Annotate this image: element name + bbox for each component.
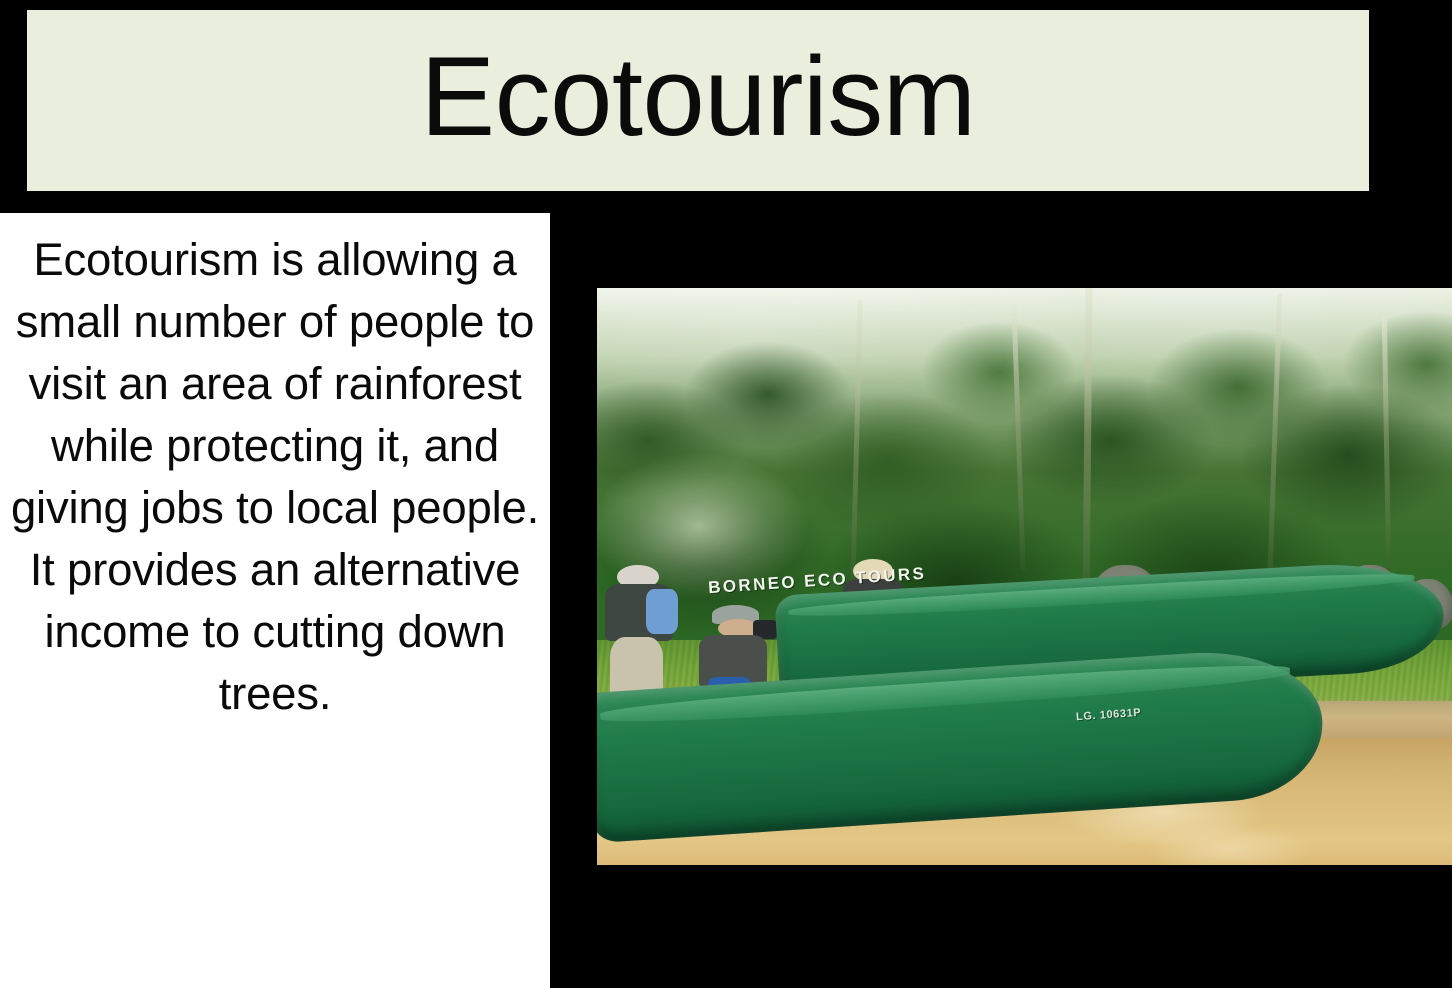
page-title: Ecotourism bbox=[420, 41, 975, 153]
body-paragraph: Ecotourism is allowing a small number of… bbox=[10, 229, 540, 725]
blue-shirt bbox=[646, 589, 678, 634]
slide-canvas: Ecotourism Ecotourism is allowing a smal… bbox=[0, 0, 1452, 988]
body-text-panel: Ecotourism is allowing a small number of… bbox=[0, 213, 550, 988]
ecotourism-photo: BORNEO ECO TOURS LG. 10631P bbox=[597, 288, 1452, 865]
title-banner: Ecotourism bbox=[27, 10, 1369, 191]
